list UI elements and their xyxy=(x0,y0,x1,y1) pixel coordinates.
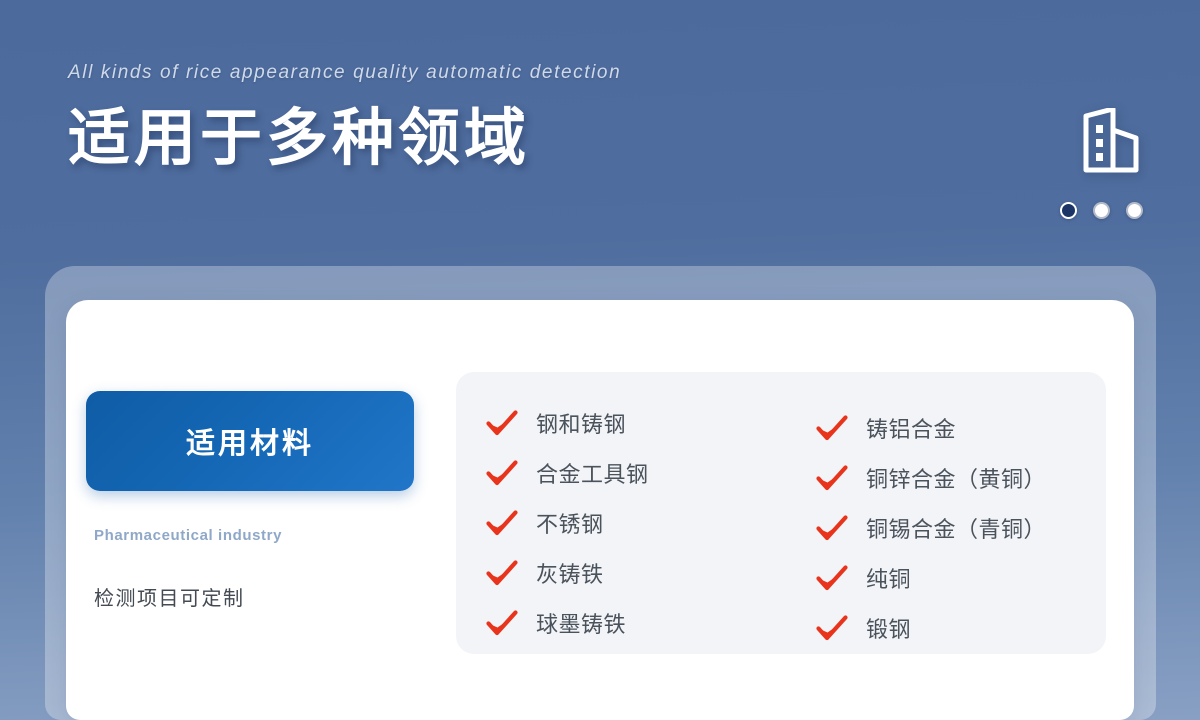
carousel-dot-2[interactable] xyxy=(1093,202,1110,219)
page-header: All kinds of rice appearance quality aut… xyxy=(68,62,1068,171)
check-icon xyxy=(486,560,518,586)
check-icon xyxy=(816,565,848,591)
material-label: 灰铸铁 xyxy=(536,557,604,589)
list-item: 不锈钢 xyxy=(486,498,796,548)
list-item: 球墨铸铁 xyxy=(486,598,796,648)
material-label: 合金工具钢 xyxy=(536,457,649,489)
list-item: 铜锡合金（青铜） xyxy=(816,503,1106,553)
page-title: 适用于多种领域 xyxy=(68,106,1068,171)
check-icon xyxy=(816,465,848,491)
card-left-column: 适用材料 Pharmaceutical industry 检测项目可定制 xyxy=(86,391,438,611)
materials-list: 钢和铸钢 合金工具钢 不锈钢 xyxy=(456,372,1106,654)
material-label: 铜锡合金（青铜） xyxy=(866,512,1046,544)
carousel-dots[interactable] xyxy=(1060,202,1143,219)
check-icon xyxy=(486,410,518,436)
check-icon xyxy=(816,615,848,641)
building-icon xyxy=(1080,108,1142,174)
material-label: 纯铜 xyxy=(866,562,911,594)
list-item: 灰铸铁 xyxy=(486,548,796,598)
subtitle-english: Pharmaceutical industry xyxy=(94,527,438,544)
list-item: 合金工具钢 xyxy=(486,448,796,498)
list-item: 铜锌合金（黄铜） xyxy=(816,453,1106,503)
list-item: 铸铝合金 xyxy=(816,403,1106,453)
check-icon xyxy=(486,460,518,486)
check-icon xyxy=(816,515,848,541)
material-label: 锻钢 xyxy=(866,612,911,644)
subtitle-chinese: 检测项目可定制 xyxy=(94,582,438,611)
carousel-dot-1[interactable] xyxy=(1060,202,1077,219)
material-label: 球墨铸铁 xyxy=(536,607,626,639)
list-item: 钢和铸钢 xyxy=(486,398,796,448)
materials-column-right: 铸铝合金 铜锌合金（黄铜） 铜锡合金（青铜） xyxy=(796,398,1106,654)
check-icon xyxy=(816,415,848,441)
material-label: 铜锌合金（黄铜） xyxy=(866,462,1046,494)
check-icon xyxy=(486,610,518,636)
carousel-dot-3[interactable] xyxy=(1126,202,1143,219)
eyebrow-text: All kinds of rice appearance quality aut… xyxy=(68,62,1068,84)
material-label: 不锈钢 xyxy=(536,507,604,539)
list-item: 锻钢 xyxy=(816,603,1106,653)
content-card: 适用材料 Pharmaceutical industry 检测项目可定制 钢和铸… xyxy=(66,300,1134,720)
check-icon xyxy=(486,510,518,536)
list-item: 纯铜 xyxy=(816,553,1106,603)
material-label: 钢和铸钢 xyxy=(536,407,626,439)
applicable-materials-button[interactable]: 适用材料 xyxy=(86,391,414,491)
materials-column-left: 钢和铸钢 合金工具钢 不锈钢 xyxy=(456,398,796,654)
material-label: 铸铝合金 xyxy=(866,412,956,444)
